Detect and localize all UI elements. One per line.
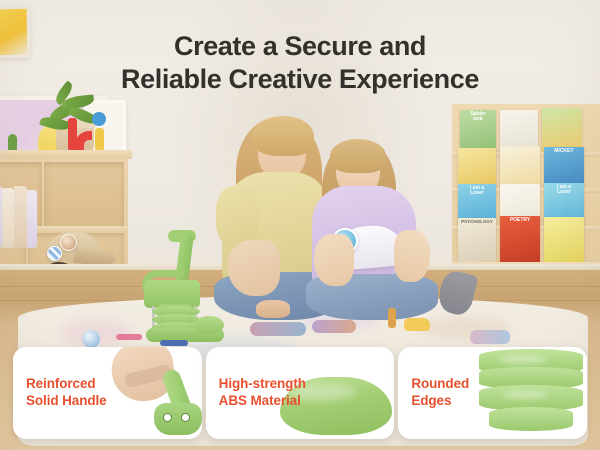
book-cover [544, 217, 584, 264]
badge-icon [47, 246, 62, 261]
page-title: Create a Secure and Reliable Creative Ex… [0, 30, 600, 96]
glue-stick [388, 308, 396, 328]
feature-card-reinforced-solid-handle[interactable]: Reinforced Solid Handle [13, 347, 202, 439]
feature-card-label: Reinforced Solid Handle [13, 376, 107, 409]
feature-card-label: Rounded Edges [398, 376, 469, 409]
shelf-top-board [0, 150, 132, 159]
craft-item [312, 320, 356, 333]
mother-fringe [252, 116, 314, 156]
daughter-fringe [330, 139, 386, 173]
craft-item [470, 330, 510, 344]
badge-icon [60, 234, 77, 251]
book-cover: PSYCHOLOGY [458, 218, 496, 264]
daughter-right-arm [394, 230, 430, 282]
letter-i-dot-decor [92, 112, 106, 126]
feature-card-rounded-edges[interactable]: Rounded Edges [398, 347, 587, 439]
feature-card-high-strength-abs-material[interactable]: High-strength ABS Material [206, 347, 395, 439]
badge-icon [82, 330, 100, 348]
marker-pen [160, 340, 188, 346]
book-stack [0, 186, 36, 250]
marker-pen [116, 334, 142, 340]
feature-card-row: Reinforced Solid Handle High-strength AB… [0, 347, 600, 439]
mother-foot [256, 300, 290, 318]
craft-item [250, 322, 306, 336]
book-cover: POETRY [500, 216, 540, 264]
button-press-machine [138, 232, 238, 340]
press-tray [194, 316, 224, 334]
daughter-left-arm [314, 234, 354, 286]
headline-line-1: Create a Secure and [174, 31, 426, 61]
green-stacked-press-body-icon [466, 347, 587, 439]
letter-h-decor [68, 118, 77, 151]
feature-card-label: High-strength ABS Material [206, 376, 306, 409]
promo-banner: Spiderweb MICKEY I am aLoser I am aLoser… [0, 0, 600, 450]
headline-line-2: Reliable Creative Experience [0, 63, 600, 96]
letter-i-decor [95, 128, 104, 151]
toy-car [404, 318, 430, 331]
shelf-cubby [44, 162, 124, 228]
